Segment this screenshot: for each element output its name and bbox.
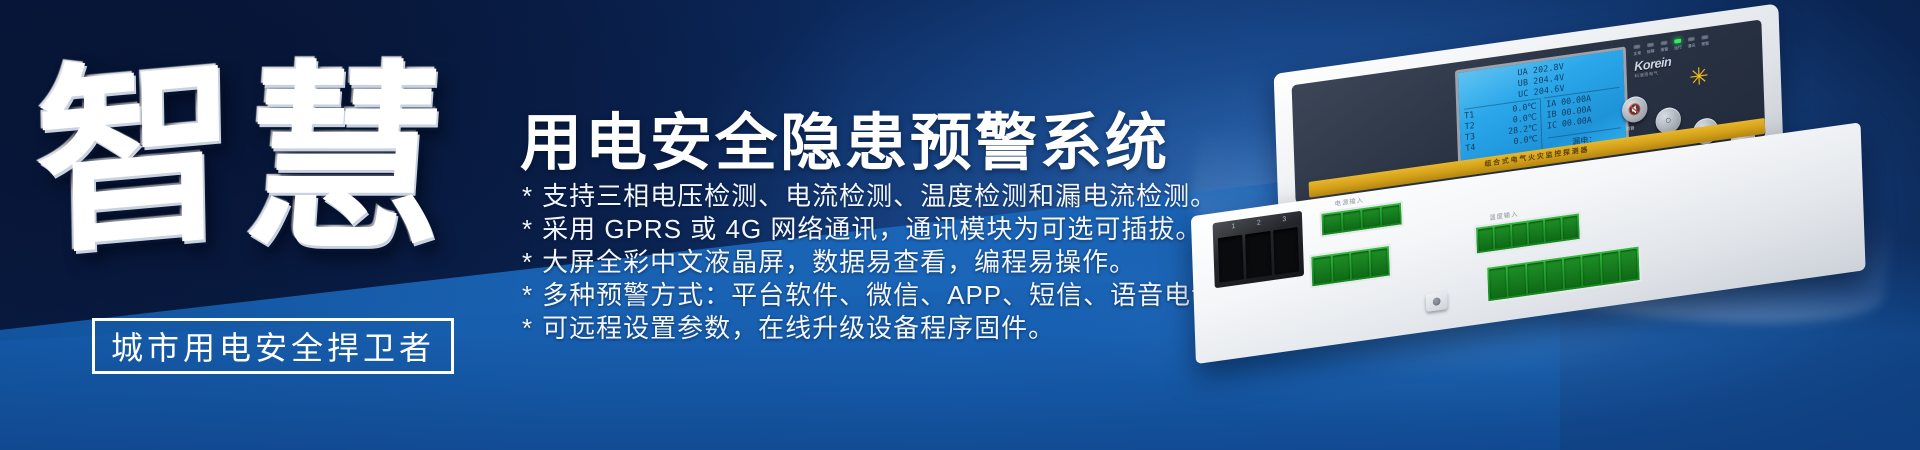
promo-banner: 智 慧 城市用电安全捍卫者 用电安全隐患预警系统 * 支持三相电压检测、电流检测…: [0, 0, 1920, 450]
terminal-pin: [1351, 251, 1369, 279]
led-fault-icon: [1647, 42, 1654, 47]
terminal-pin: [1564, 257, 1582, 289]
led-label-run: 运行: [1672, 44, 1683, 51]
terminal-pin: [1583, 254, 1601, 286]
terminal-pin: [1382, 205, 1400, 225]
tagline-text: 城市用电安全捍卫者: [111, 323, 435, 369]
bullet-marker-icon: *: [522, 312, 533, 344]
led-label-fault: 故障: [1645, 48, 1656, 55]
bullet-text: 采用 GPRS 或 4G 网络通讯，通讯模块为可选可插拔。: [542, 213, 1202, 245]
led-comm-icon: [1688, 37, 1695, 42]
terminal-block-signal: [1485, 244, 1642, 303]
terminal-pin: [1545, 218, 1561, 242]
terminal-pin: [1362, 208, 1380, 228]
bullet-text: 支持三相电压检测、电流检测、温度检测和漏电流检测。: [542, 180, 1217, 212]
reset-icon: ○: [1665, 114, 1672, 127]
connector-number-2: 2: [1257, 219, 1261, 226]
terminal-block-power: [1319, 200, 1403, 237]
connector-number-1: 1: [1231, 223, 1235, 230]
terminal-pin: [1620, 249, 1638, 281]
mounting-screw-icon: [1426, 291, 1448, 312]
bullet-marker-icon: *: [522, 246, 533, 278]
led-alarm-icon: [1661, 41, 1668, 46]
tagline-box: 城市用电安全捍卫者: [92, 318, 454, 374]
terminal-pin: [1512, 223, 1528, 247]
terminal-pin: [1370, 248, 1388, 276]
connector-number-3: 3: [1282, 216, 1286, 223]
led-label-alarm: 报警: [1659, 46, 1670, 53]
bullet-text: 大屏全彩中文液晶屏，数据易查看，编程易操作。: [542, 246, 1136, 278]
bullet-text: 可远程设置参数，在线升级设备程序固件。: [542, 312, 1055, 344]
mute-button-label: 消音: [1626, 125, 1635, 132]
terminal-pin: [1332, 254, 1350, 282]
black-connector-block: 1 2 3: [1213, 211, 1305, 289]
bullet-marker-icon: *: [522, 279, 533, 311]
led-run-icon: [1674, 39, 1681, 44]
terminal-pin: [1601, 251, 1619, 283]
terminal-pin: [1313, 256, 1331, 284]
terminal-pin: [1323, 213, 1341, 233]
bullet-marker-icon: *: [522, 213, 533, 245]
terminal-pin: [1508, 264, 1526, 296]
terminal-pin: [1528, 220, 1544, 244]
terminal-pin: [1495, 225, 1511, 249]
terminal-pin: [1478, 227, 1494, 251]
led-label-comm: 通讯: [1686, 42, 1697, 49]
connector-slot: [1273, 227, 1299, 275]
led-normal-icon: [1633, 44, 1640, 49]
terminal-pin: [1527, 262, 1545, 294]
bullet-marker-icon: *: [522, 180, 533, 212]
sunburst-icon: ✳: [1689, 64, 1713, 91]
led-prewarn-icon: [1701, 35, 1708, 40]
terminal-block-secondary: [1309, 244, 1392, 289]
terminal-pin: [1343, 210, 1361, 230]
lcd-t4-label: T4: [1465, 143, 1475, 155]
connector-slot: [1245, 231, 1271, 279]
terminal-pin: [1562, 216, 1578, 240]
mute-icon: 🔇: [1628, 102, 1642, 117]
led-label-prewarn: 预警: [1700, 40, 1711, 47]
terminal-pin: [1489, 267, 1507, 299]
lcd-t4-value: 0.0℃: [1513, 134, 1538, 148]
terminal-pin: [1545, 259, 1563, 291]
connector-slot: [1218, 235, 1244, 283]
brand-logo: Korein 科瑞恩电气: [1634, 54, 1672, 80]
led-label-normal: 正常: [1632, 50, 1643, 57]
page-title: 用电安全隐患预警系统: [520, 92, 1170, 182]
